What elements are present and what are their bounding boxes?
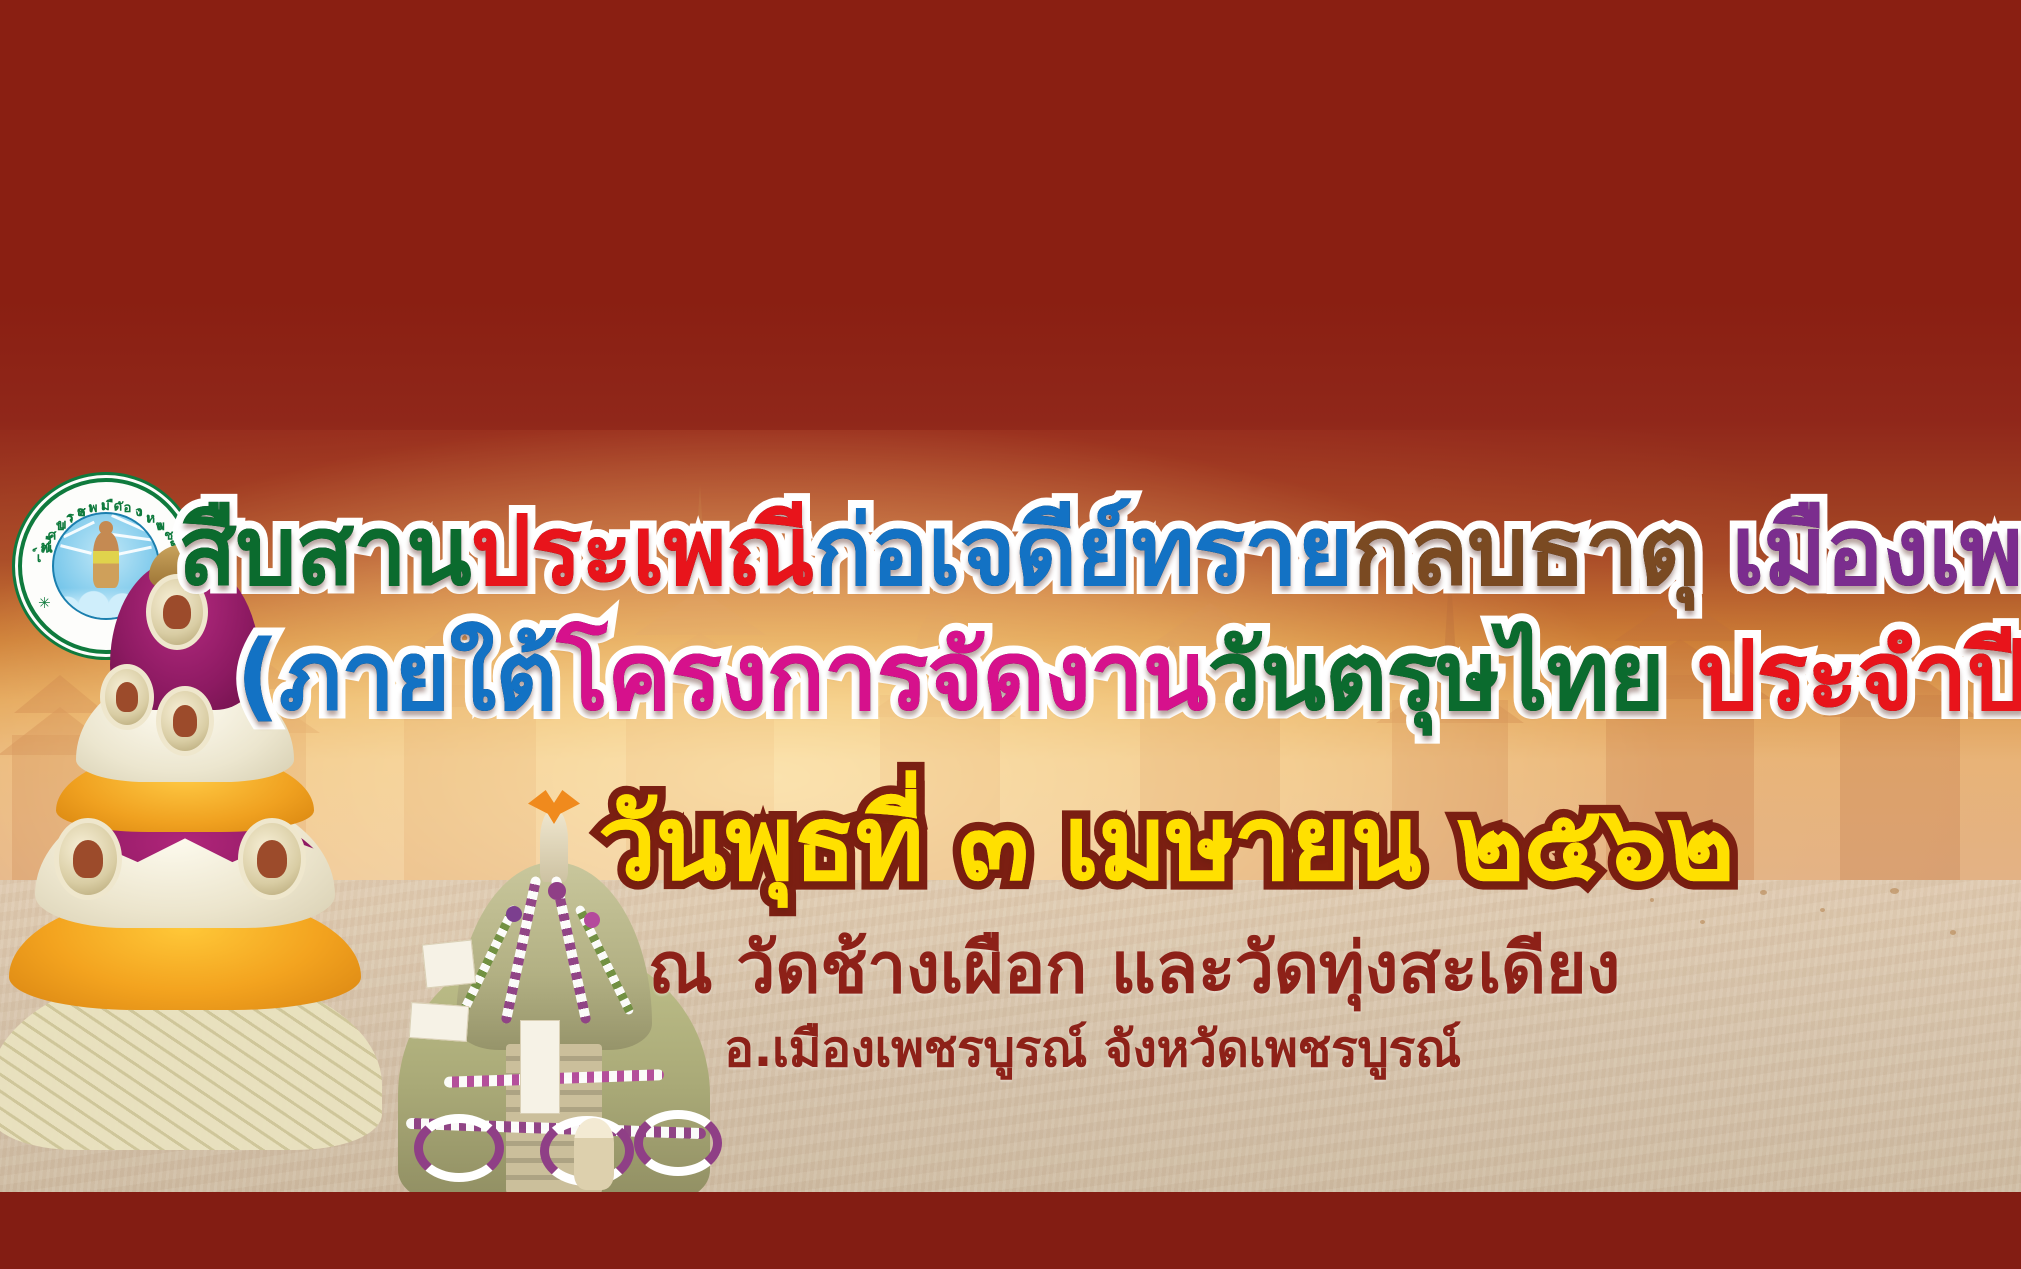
event-banner: เ ท ศ บ า ล เ ม ื อ ง เ พ ช ร บ ู ร ณ ์ …: [0, 0, 2021, 1269]
headline-seg-1: สืบสาน: [178, 495, 471, 607]
headline2-seg-2: โครงการจัดงาน: [557, 620, 1208, 732]
headline2-seg-3: วันตรุษไทย: [1207, 620, 1664, 732]
headline-line-2: (ภายใต้โครงการจัดงานวันตรุษไทย ประจำปี ๒…: [236, 600, 2021, 752]
event-district-line: อ.เมืองเพชรบูรณ์ จังหวัดเพชรบูรณ์: [724, 1010, 1461, 1089]
headline-seg-2: ประเพณี: [471, 495, 814, 607]
headline-seg-4: กลบธาตุ: [1352, 495, 1699, 607]
headline-line-2-colored: (ภายใต้โครงการจัดงานวันตรุษไทย ประจำปี ๒…: [236, 600, 2021, 752]
headline2-seg-1: (ภายใต้: [236, 620, 557, 732]
event-date-line: วันพุธที่ ๓ เมษายน ๒๕๖๒ วันพุธที่ ๓ เมษา…: [598, 760, 1734, 925]
event-date-text: วันพุธที่ ๓ เมษายน ๒๕๖๒: [598, 760, 1734, 925]
headline-seg-5: เมืองเพชรบูรณ์: [1699, 495, 2021, 607]
headline-seg-3: ก่อเจดีย์ทราย: [814, 495, 1352, 607]
bottom-bar: [0, 1192, 2021, 1269]
event-venue-line: ณ วัดช้างเผือก และวัดทุ่งสะเดียง: [648, 912, 1620, 1023]
headline2-seg-4: ประจำปี ๒๕๖๒): [1664, 620, 2021, 732]
